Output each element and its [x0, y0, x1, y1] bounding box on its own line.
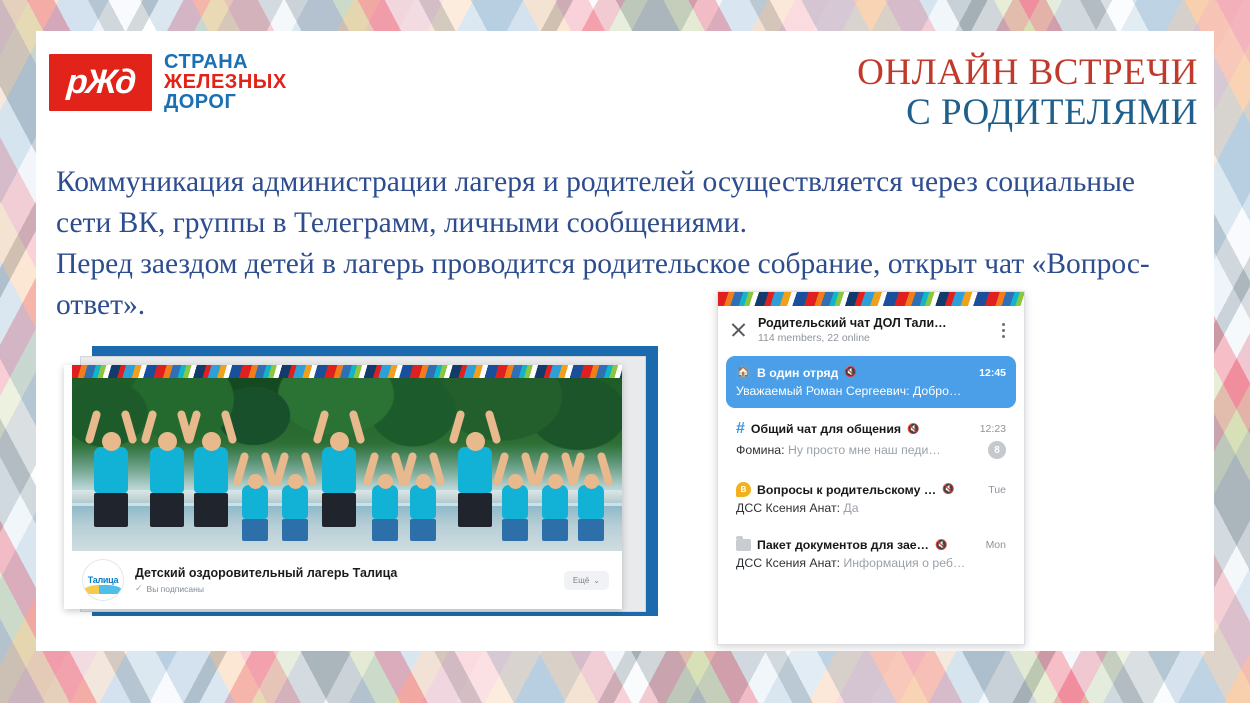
photo-person: [282, 474, 308, 541]
unread-badge: 8: [988, 441, 1006, 459]
topic-preview-text: Ну просто мне наш педи…: [785, 443, 941, 457]
topic-preview: ДСС Ксения Анат: Информация о реб…: [736, 556, 1006, 570]
folder-icon: [736, 539, 751, 551]
photo-person: [458, 432, 492, 527]
telegram-chat-panel: Родительский чат ДОЛ Тали… 114 members, …: [717, 291, 1025, 645]
slide-canvas: рЖд СТРАНА ЖЕЛЕЗНЫХ ДОРОГ ОНЛАЙН ВСТРЕЧИ…: [36, 31, 1214, 651]
topic-preview: Уважаемый Роман Сергеевич: Добро…: [736, 384, 1006, 398]
photo-person: [322, 432, 356, 527]
topic-name: Общий чат для общения: [751, 422, 901, 436]
photo-person: [94, 432, 128, 527]
close-icon[interactable]: [728, 320, 748, 340]
rzd-logo: рЖд СТРАНА ЖЕЛЕЗНЫХ ДОРОГ: [49, 52, 287, 112]
topic-row-primary: В Вопросы к родительскому … 🔇 Tue: [736, 482, 1006, 497]
topic-time: 12:23: [974, 423, 1006, 435]
topic-row-secondary: Уважаемый Роман Сергеевич: Добро…: [736, 384, 1006, 398]
photo-person: [502, 474, 528, 541]
telegram-chat-header-text: Родительский чат ДОЛ Тали… 114 members, …: [758, 316, 984, 344]
topic-row-secondary: ДСС Ксения Анат: Информация о реб…: [736, 556, 1006, 570]
telegram-topic-list: 🏠 В один отряд 🔇 12:45 Уважаемый Роман С…: [718, 356, 1024, 584]
topic-time: Tue: [982, 484, 1006, 496]
topic-name: Пакет документов для зае…: [757, 538, 929, 552]
rzd-logo-text: СТРАНА ЖЕЛЕЗНЫХ ДОРОГ: [164, 52, 287, 112]
chevron-down-icon: ⌄: [593, 576, 600, 585]
photo-person: [578, 474, 604, 541]
vk-avatar-wave: [83, 585, 123, 594]
telegram-panel-color-stripe: [718, 292, 1024, 306]
rzd-logo-glyph: рЖд: [65, 63, 135, 102]
vk-cover-photo: [72, 378, 622, 551]
topic-sender: ДСС Ксения Анат:: [736, 501, 840, 515]
telegram-topic-item[interactable]: В Вопросы к родительскому … 🔇 Tue ДСС Кс…: [726, 473, 1016, 525]
photo-person: [194, 432, 228, 527]
topic-preview: ДСС Ксения Анат: Да: [736, 501, 1006, 515]
topic-name: Вопросы к родительскому …: [757, 483, 936, 497]
vk-card-color-stripe: [72, 365, 622, 378]
slide-root: рЖд СТРАНА ЖЕЛЕЗНЫХ ДОРОГ ОНЛАЙН ВСТРЕЧИ…: [0, 0, 1250, 703]
photo-person: [542, 474, 568, 541]
mute-icon: 🔇: [907, 424, 919, 435]
photo-person: [150, 432, 184, 527]
topic-row-primary: 🏠 В один отряд 🔇 12:45: [736, 365, 1006, 380]
mute-icon: 🔇: [844, 367, 856, 378]
vk-more-button[interactable]: Ещё ⌄: [564, 571, 609, 590]
page-title-line-1: ОНЛАЙН ВСТРЕЧИ: [857, 53, 1198, 93]
brand-line-3: ДОРОГ: [164, 92, 287, 112]
telegram-chat-title: Родительский чат ДОЛ Тали…: [758, 316, 984, 330]
vk-community-name: Детский оздоровительный лагерь Талица: [135, 566, 553, 580]
brand-line-1: СТРАНА: [164, 52, 287, 72]
topic-sender: ДСС Ксения Анат:: [736, 556, 840, 570]
topic-preview-text: Да: [840, 501, 859, 515]
topic-preview: Фомина: Ну просто мне наш педи…: [736, 443, 982, 457]
topic-preview-text: Добро…: [910, 384, 962, 398]
question-bubble-icon: В: [736, 482, 751, 497]
mute-icon: 🔇: [935, 540, 947, 551]
rzd-logo-mark: рЖд: [49, 54, 152, 111]
topic-row-primary: Пакет документов для зае… 🔇 Mon: [736, 538, 1006, 552]
topic-row-secondary: ДСС Ксения Анат: Да: [736, 501, 1006, 515]
check-icon: ✓: [135, 583, 143, 594]
topic-name: В один отряд: [757, 366, 838, 380]
topic-preview-text: Информация о реб…: [840, 556, 965, 570]
topic-time: Mon: [980, 539, 1006, 551]
topic-sender: Уважаемый Роман Сергеевич:: [736, 384, 910, 398]
vk-community-avatar[interactable]: Талица: [82, 559, 124, 601]
page-title-line-2: С РОДИТЕЛЯМИ: [857, 93, 1198, 133]
telegram-topic-item[interactable]: Пакет документов для зае… 🔇 Mon ДСС Ксен…: [726, 529, 1016, 580]
topic-sender: Фомина:: [736, 443, 785, 457]
mute-icon: 🔇: [942, 484, 954, 495]
hash-icon: #: [736, 421, 745, 437]
telegram-topic-item[interactable]: # Общий чат для общения 🔇 12:23 Фомина: …: [726, 412, 1016, 469]
brand-line-2: ЖЕЛЕЗНЫХ: [164, 72, 287, 92]
vk-community-names: Детский оздоровительный лагерь Талица ✓ …: [135, 566, 553, 594]
topic-row-secondary: Фомина: Ну просто мне наш педи… 8: [736, 441, 1006, 459]
page-title: ОНЛАЙН ВСТРЕЧИ С РОДИТЕЛЯМИ: [857, 53, 1198, 133]
vk-subscribed-label: Вы подписаны: [147, 584, 204, 594]
telegram-chat-header: Родительский чат ДОЛ Тали… 114 members, …: [718, 306, 1024, 354]
vk-community-meta: Талица Детский оздоровительный лагерь Та…: [72, 551, 622, 609]
topic-time: 12:45: [973, 367, 1006, 379]
photo-person: [372, 474, 398, 541]
vk-subscription-status: ✓ Вы подписаны: [135, 583, 553, 594]
vk-community-card[interactable]: Талица Детский оздоровительный лагерь Та…: [64, 365, 622, 609]
vk-avatar-label: Талица: [88, 575, 118, 585]
photo-person: [410, 474, 436, 541]
vk-more-label: Ещё: [573, 576, 589, 585]
topic-row-primary: # Общий чат для общения 🔇 12:23: [736, 421, 1006, 437]
house-emoji-icon: 🏠: [736, 365, 751, 380]
kebab-menu-icon[interactable]: [994, 323, 1012, 338]
telegram-chat-members: 114 members, 22 online: [758, 332, 984, 344]
telegram-topic-item[interactable]: 🏠 В один отряд 🔇 12:45 Уважаемый Роман С…: [726, 356, 1016, 408]
body-paragraph-1: Коммуникация администрации лагеря и роди…: [56, 162, 1176, 244]
photo-person: [242, 474, 268, 541]
